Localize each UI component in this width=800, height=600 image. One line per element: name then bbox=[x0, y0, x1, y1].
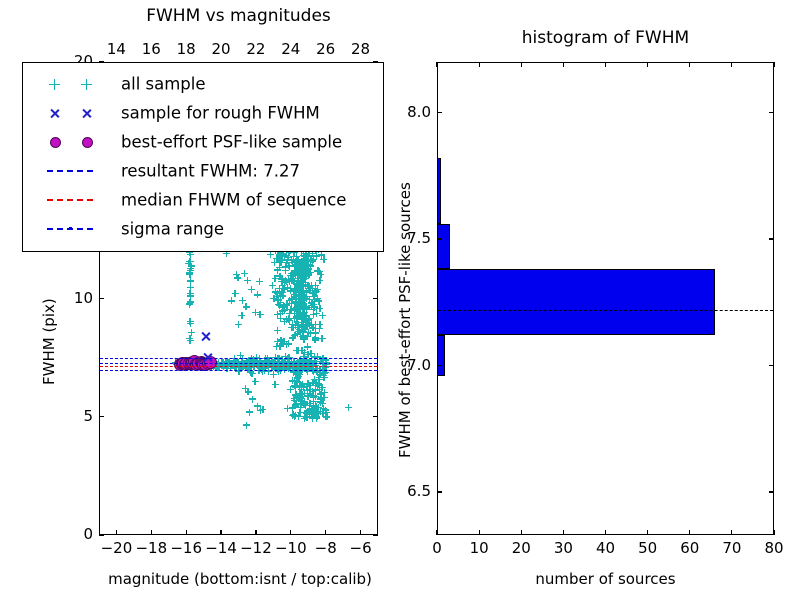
scatter-point-all-sample bbox=[294, 301, 301, 308]
scatter-point-all-sample bbox=[279, 304, 286, 311]
scatter-point-all-sample bbox=[306, 402, 313, 409]
scatter-point-all-sample bbox=[252, 309, 259, 316]
scatter-point-all-sample bbox=[297, 280, 304, 287]
scatter-point-all-sample bbox=[303, 323, 310, 330]
scatter-point-all-sample bbox=[310, 408, 317, 415]
scatter-point-all-sample bbox=[187, 293, 194, 300]
scatter-point-all-sample bbox=[317, 391, 324, 398]
scatter-point-all-sample bbox=[281, 307, 288, 314]
scatter-point-all-sample bbox=[299, 381, 306, 388]
scatter-point-all-sample bbox=[280, 303, 287, 310]
scatter-point-all-sample bbox=[300, 384, 307, 391]
scatter-point-all-sample bbox=[296, 287, 303, 294]
scatter-point-all-sample bbox=[259, 406, 266, 413]
scatter-point-all-sample bbox=[294, 282, 301, 289]
scatter-point-all-sample bbox=[305, 252, 312, 259]
scatter-point-all-sample bbox=[298, 290, 305, 297]
scatter-point-all-sample bbox=[286, 297, 293, 304]
scatter-point-all-sample bbox=[318, 252, 325, 259]
scatter-point-all-sample bbox=[311, 289, 318, 296]
legend-item[interactable]: sigma range bbox=[33, 215, 377, 242]
scatter-point-all-sample bbox=[294, 281, 301, 288]
scatter-point-all-sample bbox=[300, 252, 307, 259]
x-tick-bottom bbox=[116, 530, 117, 535]
hist-y-tick-right bbox=[769, 238, 774, 239]
scatter-point-all-sample bbox=[279, 276, 286, 283]
scatter-point-all-sample bbox=[291, 413, 298, 420]
hist-x-tick-top bbox=[773, 62, 774, 67]
scatter-point-all-sample bbox=[273, 343, 280, 350]
scatter-point-all-sample bbox=[297, 394, 304, 401]
scatter-point-all-sample bbox=[313, 414, 320, 421]
scatter-point-all-sample bbox=[296, 262, 303, 269]
histogram-bar bbox=[438, 224, 450, 270]
left-panel-xlabel: magnitude (bottom:isnt / top:calib) bbox=[60, 570, 420, 588]
histogram-resultant-fwhm-line bbox=[438, 310, 773, 311]
scatter-point-all-sample bbox=[281, 285, 288, 292]
scatter-point-all-sample bbox=[294, 330, 301, 337]
hist-y-tick-label: 8.0 bbox=[389, 103, 431, 121]
scatter-point-all-sample bbox=[296, 371, 303, 378]
scatter-point-all-sample bbox=[301, 255, 308, 262]
scatter-point-all-sample bbox=[300, 334, 307, 341]
scatter-point-all-sample bbox=[249, 396, 256, 403]
scatter-point-all-sample bbox=[300, 270, 307, 277]
x-tick-label-top: 28 bbox=[344, 40, 378, 58]
plus-icon bbox=[81, 79, 92, 90]
scatter-point-all-sample bbox=[320, 410, 327, 417]
scatter-point-all-sample bbox=[299, 263, 306, 270]
scatter-point-all-sample bbox=[301, 326, 308, 333]
legend-marker-circle-icon bbox=[33, 128, 117, 155]
scatter-point-all-sample bbox=[277, 299, 284, 306]
scatter-point-all-sample bbox=[294, 271, 301, 278]
hist-y-tick bbox=[437, 112, 442, 113]
scatter-point-all-sample bbox=[290, 253, 297, 260]
scatter-point-all-sample bbox=[310, 398, 317, 405]
scatter-point-all-sample bbox=[301, 415, 308, 422]
scatter-point-all-sample bbox=[316, 386, 323, 393]
scatter-point-all-sample bbox=[308, 406, 315, 413]
scatter-point-all-sample bbox=[309, 285, 316, 292]
scatter-point-all-sample bbox=[296, 383, 303, 390]
scatter-point-all-sample bbox=[284, 284, 291, 291]
scatter-point-all-sample bbox=[186, 335, 193, 342]
scatter-point-all-sample bbox=[243, 303, 250, 310]
scatter-point-all-sample bbox=[301, 399, 308, 406]
y-tick-label: 0 bbox=[59, 525, 93, 543]
scatter-point-all-sample bbox=[318, 394, 325, 401]
scatter-point-all-sample bbox=[301, 268, 308, 275]
legend-item-label: resultant FWHM: 7.27 bbox=[121, 161, 300, 180]
scatter-point-all-sample bbox=[313, 380, 320, 387]
x-tick-label-bottom: −20 bbox=[99, 539, 133, 557]
scatter-point-all-sample bbox=[297, 409, 304, 416]
legend-marker-cross-icon bbox=[33, 99, 117, 126]
scatter-point-all-sample bbox=[291, 358, 298, 365]
scatter-point-all-sample bbox=[311, 410, 318, 417]
scatter-point-all-sample bbox=[314, 267, 321, 274]
scatter-point-all-sample bbox=[238, 312, 245, 319]
x-tick-bottom bbox=[220, 530, 221, 535]
scatter-point-all-sample bbox=[302, 279, 309, 286]
scatter-point-all-sample bbox=[306, 382, 313, 389]
scatter-point-all-sample bbox=[233, 271, 240, 278]
scatter-point-all-sample bbox=[313, 413, 320, 420]
x-tick-bottom bbox=[255, 530, 256, 535]
scatter-point-all-sample bbox=[290, 324, 297, 331]
scatter-point-all-sample bbox=[289, 324, 296, 331]
scatter-point-all-sample bbox=[323, 409, 330, 416]
scatter-point-all-sample bbox=[298, 258, 305, 265]
scatter-point-all-sample bbox=[299, 267, 306, 274]
hist-x-tick-label: 0 bbox=[420, 539, 454, 557]
scatter-point-all-sample bbox=[281, 358, 288, 365]
legend-box: all samplesample for rough FWHMbest-effo… bbox=[22, 62, 384, 252]
scatter-point-all-sample bbox=[301, 253, 308, 260]
legend-item-label: all sample bbox=[121, 74, 206, 93]
scatter-point-all-sample bbox=[295, 313, 302, 320]
median-fwhm-line bbox=[100, 366, 377, 367]
scatter-point-all-sample bbox=[303, 257, 310, 264]
scatter-point-all-sample bbox=[297, 263, 304, 270]
scatter-point-all-sample bbox=[305, 262, 312, 269]
scatter-point-all-sample bbox=[304, 258, 311, 265]
scatter-point-all-sample bbox=[186, 271, 193, 278]
scatter-point-all-sample bbox=[308, 282, 315, 289]
scatter-point-all-sample bbox=[284, 256, 291, 263]
scatter-point-all-sample bbox=[293, 286, 300, 293]
scatter-point-all-sample bbox=[295, 257, 302, 264]
scatter-point-all-sample bbox=[302, 413, 309, 420]
scatter-point-all-sample bbox=[291, 358, 298, 365]
scatter-point-all-sample bbox=[293, 393, 300, 400]
scatter-point-all-sample bbox=[308, 300, 315, 307]
hist-y-tick bbox=[437, 491, 442, 492]
hist-x-tick-label: 30 bbox=[546, 539, 580, 557]
scatter-point-all-sample bbox=[279, 292, 286, 299]
scatter-point-all-sample bbox=[300, 302, 307, 309]
scatter-point-all-sample bbox=[296, 306, 303, 313]
scatter-point-all-sample bbox=[277, 259, 284, 266]
scatter-point-all-sample bbox=[301, 413, 308, 420]
scatter-point-all-sample bbox=[298, 323, 305, 330]
scatter-point-all-sample bbox=[235, 321, 242, 328]
scatter-point-all-sample bbox=[299, 315, 306, 322]
scatter-point-all-sample bbox=[298, 395, 305, 402]
scatter-point-all-sample bbox=[301, 349, 308, 356]
legend-item[interactable]: median FHWM of sequence bbox=[33, 186, 377, 213]
scatter-point-all-sample bbox=[291, 395, 298, 402]
scatter-point-all-sample bbox=[271, 259, 278, 266]
scatter-point-all-sample bbox=[307, 358, 314, 365]
circle-icon bbox=[50, 137, 61, 148]
scatter-point-all-sample bbox=[298, 298, 305, 305]
scatter-point-all-sample bbox=[301, 304, 308, 311]
scatter-point-all-sample bbox=[323, 413, 330, 420]
scatter-point-all-sample bbox=[295, 299, 302, 306]
scatter-point-all-sample bbox=[299, 274, 306, 281]
scatter-point-all-sample bbox=[286, 263, 293, 270]
scatter-point-all-sample bbox=[299, 319, 306, 326]
scatter-point-all-sample bbox=[319, 400, 326, 407]
scatter-point-all-sample bbox=[295, 261, 302, 268]
scatter-point-all-sample bbox=[294, 322, 301, 329]
right-panel-xlabel: number of sources bbox=[437, 570, 774, 588]
scatter-point-all-sample bbox=[278, 288, 285, 295]
scatter-point-all-sample bbox=[293, 304, 300, 311]
scatter-point-all-sample bbox=[242, 385, 249, 392]
scatter-point-all-sample bbox=[304, 343, 311, 350]
y-tick-right bbox=[373, 298, 378, 299]
scatter-point-all-sample bbox=[299, 303, 306, 310]
legend-item[interactable]: best-effort PSF-like sample bbox=[33, 128, 377, 155]
scatter-point-all-sample bbox=[303, 306, 310, 313]
scatter-point-all-sample bbox=[301, 390, 308, 397]
y-tick-right bbox=[373, 416, 378, 417]
scatter-point-all-sample bbox=[301, 316, 308, 323]
y-tick bbox=[99, 298, 104, 299]
scatter-point-all-sample bbox=[307, 390, 314, 397]
resultant-fwhm-line bbox=[100, 363, 377, 364]
scatter-point-all-sample bbox=[293, 300, 300, 307]
scatter-point-all-sample bbox=[297, 262, 304, 269]
scatter-point-all-sample bbox=[245, 388, 252, 395]
scatter-point-all-sample bbox=[285, 316, 292, 323]
scatter-point-all-sample bbox=[292, 261, 299, 268]
scatter-point-all-sample bbox=[298, 302, 305, 309]
scatter-point-all-sample bbox=[294, 308, 301, 315]
scatter-point-all-sample bbox=[312, 412, 319, 419]
scatter-point-all-sample bbox=[249, 370, 256, 377]
scatter-point-all-sample bbox=[345, 404, 352, 411]
scatter-point-all-sample bbox=[299, 264, 306, 271]
scatter-point-all-sample bbox=[246, 409, 253, 416]
scatter-point-all-sample bbox=[301, 398, 308, 405]
scatter-point-all-sample bbox=[299, 333, 306, 340]
legend-item[interactable]: all sample bbox=[33, 70, 377, 97]
scatter-point-all-sample bbox=[294, 303, 301, 310]
cross-icon bbox=[49, 108, 60, 119]
scatter-point-all-sample bbox=[305, 271, 312, 278]
scatter-point-all-sample bbox=[302, 275, 309, 282]
scatter-point-all-sample bbox=[321, 389, 328, 396]
scatter-point-all-sample bbox=[319, 312, 326, 319]
scatter-point-all-sample bbox=[279, 256, 286, 263]
scatter-point-all-sample bbox=[297, 397, 304, 404]
scatter-point-all-sample bbox=[282, 263, 289, 270]
scatter-point-all-sample bbox=[293, 253, 300, 260]
scatter-point-all-sample bbox=[187, 258, 194, 265]
hist-x-tick-label: 40 bbox=[589, 539, 623, 557]
scatter-point-all-sample bbox=[295, 293, 302, 300]
scatter-point-all-sample bbox=[294, 260, 301, 267]
scatter-point-all-sample bbox=[293, 293, 300, 300]
scatter-point-all-sample bbox=[259, 368, 266, 375]
scatter-point-all-sample bbox=[186, 269, 193, 276]
scatter-point-all-sample bbox=[300, 267, 307, 274]
legend-item[interactable]: sample for rough FWHM bbox=[33, 99, 377, 126]
scatter-point-all-sample bbox=[298, 260, 305, 267]
scatter-point-all-sample bbox=[298, 295, 305, 302]
scatter-point-all-sample bbox=[303, 305, 310, 312]
scatter-point-all-sample bbox=[313, 410, 320, 417]
scatter-point-all-sample bbox=[308, 321, 315, 328]
scatter-point-all-sample bbox=[297, 295, 304, 302]
scatter-point-all-sample bbox=[312, 403, 319, 410]
hist-y-tick-right bbox=[769, 491, 774, 492]
scatter-point-all-sample bbox=[305, 408, 312, 415]
scatter-point-all-sample bbox=[319, 335, 326, 342]
scatter-point-all-sample bbox=[285, 254, 292, 261]
x-tick-label-bottom: −6 bbox=[344, 539, 378, 557]
scatter-point-all-sample bbox=[303, 295, 310, 302]
scatter-point-all-sample bbox=[291, 286, 298, 293]
scatter-point-all-sample bbox=[297, 267, 304, 274]
scatter-point-all-sample bbox=[298, 296, 305, 303]
scatter-point-all-sample bbox=[283, 301, 290, 308]
scatter-point-all-sample bbox=[315, 404, 322, 411]
hist-x-tick bbox=[773, 530, 774, 535]
scatter-point-all-sample bbox=[307, 330, 314, 337]
scatter-point-all-sample bbox=[312, 329, 319, 336]
scatter-point-all-sample bbox=[187, 277, 194, 284]
scatter-point-all-sample bbox=[299, 275, 306, 282]
scatter-point-all-sample bbox=[187, 299, 194, 306]
scatter-point-all-sample bbox=[277, 310, 284, 317]
left-panel-title: FWHM vs magnitudes bbox=[99, 6, 378, 26]
scatter-point-all-sample bbox=[298, 294, 305, 301]
scatter-point-all-sample bbox=[296, 379, 303, 386]
scatter-point-all-sample bbox=[299, 327, 306, 334]
scatter-point-all-sample bbox=[295, 293, 302, 300]
scatter-point-all-sample bbox=[302, 312, 309, 319]
scatter-point-all-sample bbox=[298, 265, 305, 272]
right-panel-ylabel: FWHM of best-effort PSF-like sources bbox=[396, 182, 414, 458]
scatter-point-all-sample bbox=[303, 323, 310, 330]
scatter-point-all-sample bbox=[321, 394, 328, 401]
scatter-point-all-sample bbox=[303, 383, 310, 390]
scatter-point-all-sample bbox=[275, 368, 282, 375]
scatter-point-all-sample bbox=[297, 293, 304, 300]
scatter-point-all-sample bbox=[187, 337, 194, 344]
scatter-point-all-sample bbox=[294, 319, 301, 326]
scatter-point-all-sample bbox=[297, 275, 304, 282]
scatter-point-all-sample bbox=[298, 274, 305, 281]
scatter-point-all-sample bbox=[295, 393, 302, 400]
scatter-point-all-sample bbox=[296, 284, 303, 291]
scatter-point-all-sample bbox=[285, 340, 292, 347]
scatter-point-all-sample bbox=[186, 258, 193, 265]
scatter-point-all-sample bbox=[313, 252, 320, 259]
scatter-point-all-sample bbox=[243, 422, 250, 429]
scatter-point-all-sample bbox=[276, 302, 283, 309]
scatter-point-all-sample bbox=[276, 255, 283, 262]
scatter-point-all-sample bbox=[309, 388, 316, 395]
scatter-point-all-sample bbox=[291, 382, 298, 389]
scatter-point-all-sample bbox=[323, 413, 330, 420]
hist-x-tick-top bbox=[479, 62, 480, 67]
scatter-point-all-sample bbox=[297, 266, 304, 273]
scatter-point-all-sample bbox=[297, 287, 304, 294]
scatter-point-all-sample bbox=[305, 271, 312, 278]
scatter-point-all-sample bbox=[294, 283, 301, 290]
scatter-point-all-sample bbox=[296, 390, 303, 397]
hist-x-tick bbox=[605, 530, 606, 535]
scatter-point-all-sample bbox=[304, 408, 311, 415]
scatter-point-all-sample bbox=[314, 295, 321, 302]
sigma-range-upper-line bbox=[100, 358, 377, 359]
scatter-point-all-sample bbox=[293, 307, 300, 314]
scatter-point-all-sample bbox=[274, 311, 281, 318]
scatter-point-all-sample bbox=[288, 300, 295, 307]
scatter-point-all-sample bbox=[293, 313, 300, 320]
y-tick-label: 10 bbox=[59, 289, 93, 307]
scatter-point-all-sample bbox=[276, 273, 283, 280]
cross-icon bbox=[81, 108, 92, 119]
legend-marker-plus-icon bbox=[33, 70, 117, 97]
scatter-point-all-sample bbox=[228, 297, 235, 304]
scatter-point-all-sample bbox=[296, 270, 303, 277]
scatter-point-all-sample bbox=[300, 314, 307, 321]
scatter-point-all-sample bbox=[276, 258, 283, 265]
x-tick-label-top: 18 bbox=[169, 40, 203, 58]
scatter-point-all-sample bbox=[310, 301, 317, 308]
scatter-point-all-sample bbox=[293, 258, 300, 265]
scatter-point-all-sample bbox=[305, 265, 312, 272]
scatter-point-all-sample bbox=[274, 267, 281, 274]
scatter-point-all-sample bbox=[299, 291, 306, 298]
scatter-point-all-sample bbox=[304, 263, 311, 270]
scatter-point-all-sample bbox=[187, 267, 194, 274]
hist-x-tick bbox=[689, 530, 690, 535]
scatter-point-all-sample bbox=[301, 309, 308, 316]
scatter-point-all-sample bbox=[275, 297, 282, 304]
scatter-point-all-sample bbox=[303, 288, 310, 295]
x-tick-bottom bbox=[360, 530, 361, 535]
scatter-point-all-sample bbox=[252, 378, 259, 385]
scatter-point-all-sample bbox=[298, 391, 305, 398]
figure-canvas: FWHM vs magnitudes magnitude (bottom:isn… bbox=[0, 0, 800, 600]
hist-x-tick bbox=[731, 530, 732, 535]
scatter-point-all-sample bbox=[295, 259, 302, 266]
scatter-point-all-sample bbox=[302, 255, 309, 262]
scatter-point-all-sample bbox=[314, 353, 321, 360]
legend-item-label: sigma range bbox=[121, 219, 224, 238]
scatter-point-all-sample bbox=[294, 322, 301, 329]
scatter-point-all-sample bbox=[310, 311, 317, 318]
x-tick-label-top: 22 bbox=[239, 40, 273, 58]
histogram-bar bbox=[438, 158, 441, 224]
scatter-point-all-sample bbox=[300, 276, 307, 283]
scatter-point-all-sample bbox=[302, 266, 309, 273]
hist-y-tick-right bbox=[769, 365, 774, 366]
scatter-point-all-sample bbox=[316, 305, 323, 312]
legend-item[interactable]: resultant FWHM: 7.27 bbox=[33, 157, 377, 184]
scatter-point-all-sample bbox=[283, 259, 290, 266]
x-tick-label-bottom: −10 bbox=[274, 539, 308, 557]
scatter-point-all-sample bbox=[292, 391, 299, 398]
scatter-point-all-sample bbox=[294, 275, 301, 282]
scatter-point-all-sample bbox=[299, 269, 306, 276]
hist-y-tick-label: 6.5 bbox=[389, 482, 431, 500]
scatter-point-all-sample bbox=[287, 272, 294, 279]
scatter-point-all-sample bbox=[291, 268, 298, 275]
scatter-point-all-sample bbox=[291, 278, 298, 285]
scatter-point-all-sample bbox=[283, 341, 290, 348]
scatter-point-all-sample bbox=[297, 299, 304, 306]
scatter-point-all-sample bbox=[298, 292, 305, 299]
